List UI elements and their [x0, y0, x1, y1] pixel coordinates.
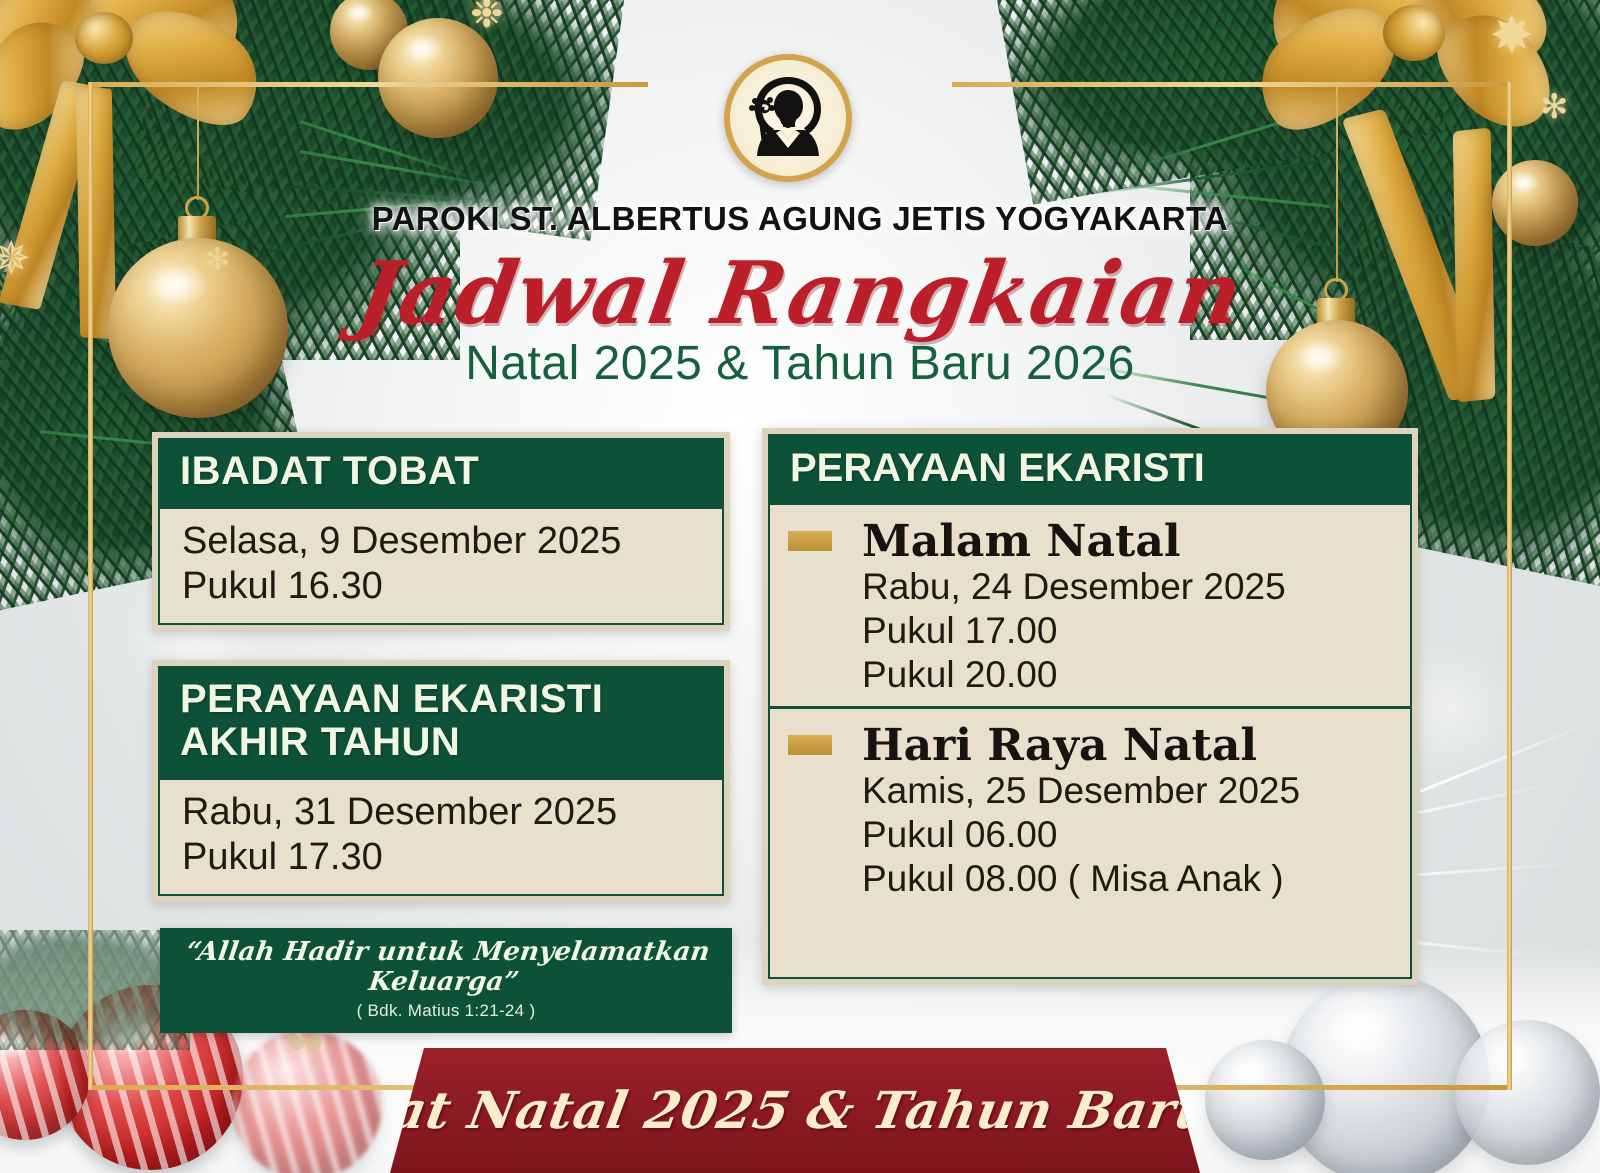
event-time: Pukul 06.00 — [862, 813, 1390, 857]
scripture-quote-box: “Allah Hadir untuk Menyelamatkan Keluarg… — [160, 928, 732, 1033]
event-date: Rabu, 24 Desember 2025 — [862, 565, 1390, 609]
event-title: Malam Natal — [862, 519, 1390, 565]
card-line: Selasa, 9 Desember 2025 — [182, 519, 700, 564]
event-hari-raya-natal: Hari Raya Natal Kamis, 25 Desember 2025 … — [770, 706, 1410, 910]
card-line: Pukul 17.30 — [182, 835, 700, 880]
page-title: PAROKI ST. ALBERTUS AGUNG JETIS YOGYAKAR… — [0, 200, 1600, 238]
gold-dash-marker-icon — [788, 531, 832, 551]
saint-bishop-icon — [738, 68, 838, 168]
gold-star-icon: ✻ — [1540, 90, 1569, 124]
ornament-thread — [197, 82, 199, 200]
card-heading-line: PERAYAAN EKARISTI — [180, 678, 702, 721]
event-title: Hari Raya Natal — [862, 723, 1390, 769]
gold-dash-marker-icon — [788, 735, 832, 755]
gold-star-icon: ❉ — [470, 0, 504, 34]
gold-star-icon: ✸ — [1490, 10, 1534, 62]
greeting-banner: Selamat Natal 2025 & Tahun Baru 2026 — [390, 1048, 1200, 1173]
panel-heading: PERAYAAN EKARISTI — [768, 434, 1412, 505]
card-body: Selasa, 9 Desember 2025 Pukul 16.30 — [158, 507, 724, 625]
event-time: Pukul 20.00 — [862, 653, 1390, 697]
card-perayaan-ekaristi-akhir-tahun: PERAYAAN EKARISTI AKHIR TAHUN Rabu, 31 D… — [152, 660, 730, 902]
card-body: Rabu, 31 Desember 2025 Pukul 17.30 — [158, 778, 724, 896]
subtitle: Natal 2025 & Tahun Baru 2026 — [0, 336, 1600, 391]
card-heading: IBADAT TOBAT — [158, 438, 724, 507]
event-malam-natal: Malam Natal Rabu, 24 Desember 2025 Pukul… — [770, 505, 1410, 706]
gold-bow-top-left — [0, 0, 300, 220]
panel-body: Malam Natal Rabu, 24 Desember 2025 Pukul… — [768, 505, 1412, 979]
card-ibadat-tobat: IBADAT TOBAT Selasa, 9 Desember 2025 Puk… — [152, 432, 730, 631]
parish-logo-medallion — [724, 54, 852, 182]
panel-perayaan-ekaristi: PERAYAAN EKARISTI Malam Natal Rabu, 24 D… — [762, 428, 1418, 985]
card-line: Rabu, 31 Desember 2025 — [182, 790, 700, 835]
christmas-schedule-poster: ✻ ✵ ❉ ✸ ✻ ✿ — [0, 0, 1600, 1173]
card-line: Pukul 16.30 — [182, 564, 700, 609]
gold-bauble-medium — [378, 18, 498, 138]
silver-bauble — [1455, 1020, 1600, 1165]
quote-reference: ( Bdk. Matius 1:21-24 ) — [170, 1001, 722, 1021]
event-time: Pukul 08.00 ( Misa Anak ) — [862, 857, 1390, 901]
event-date: Kamis, 25 Desember 2025 — [862, 769, 1390, 813]
event-time: Pukul 17.00 — [862, 609, 1390, 653]
silver-bauble — [1205, 1040, 1325, 1160]
quote-text: “Allah Hadir untuk Menyelamatkan Keluarg… — [166, 937, 726, 997]
card-heading: PERAYAAN EKARISTI AKHIR TAHUN — [158, 666, 724, 778]
script-title: Jadwal Rangkaian — [0, 243, 1600, 344]
card-heading-line: AKHIR TAHUN — [180, 721, 702, 764]
